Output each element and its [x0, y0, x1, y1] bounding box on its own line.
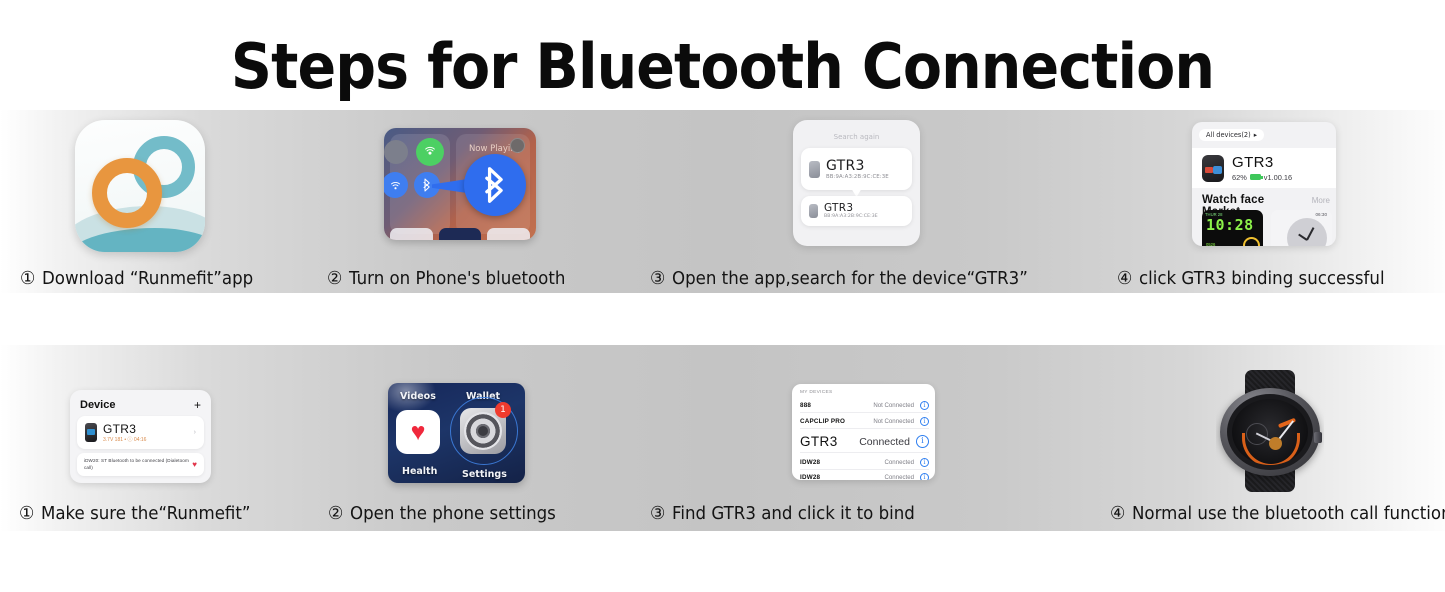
step-caption-1-1: ① Download “Runmefit”app — [20, 268, 253, 289]
ios-dock — [390, 228, 530, 240]
notification-badge: 1 — [495, 402, 511, 418]
device-name: GTR3 — [824, 202, 878, 214]
info-icon[interactable]: i — [920, 417, 929, 426]
settings-app-icon[interactable]: 1 — [460, 408, 506, 454]
step-text: Turn on Phone's bluetooth — [349, 269, 565, 289]
watch-icon — [809, 161, 820, 178]
device-status: Connected — [859, 436, 910, 448]
device-status: Connected — [885, 474, 914, 481]
device-status: Not Connected — [873, 418, 914, 425]
chevron-right-icon: › — [194, 429, 196, 436]
watch-bezel — [1227, 394, 1313, 470]
ios-bluetooth-settings-screenshot: MY DEVICES 888 Not Connected i CAPCLIP P… — [792, 384, 935, 480]
bluetooth-device-row[interactable]: CAPCLIP PRO Not Connected i — [800, 414, 929, 429]
device-status: Connected — [885, 459, 914, 466]
device-name: GTR3 — [103, 422, 146, 436]
device-name: 888 — [800, 402, 811, 409]
watch-hand-hub — [1269, 437, 1282, 450]
watch-face-list: THUR 28 10:28 0526 06:30 — [1202, 210, 1332, 246]
device-list-text: GTR3 3.7V 181 • ⓘ 04:16 — [103, 422, 146, 443]
dock-item — [487, 228, 530, 240]
watch-thumbnail — [1202, 155, 1224, 182]
watch-face-dial — [1287, 218, 1327, 246]
bluetooth-device-row[interactable]: IDW28 Connected i — [800, 470, 929, 480]
step-number: ④ — [1117, 268, 1132, 289]
watch-face-market-more[interactable]: More — [1312, 196, 1330, 205]
device-name: GTR3 — [826, 158, 889, 174]
step-number: ④ — [1110, 503, 1125, 524]
dock-item — [390, 228, 433, 240]
watch-crown — [1314, 432, 1322, 443]
step-text: click GTR3 binding successful — [1139, 269, 1385, 289]
device-status-line: 62% v1.00.16 — [1232, 173, 1292, 182]
step-number: ① — [19, 503, 34, 524]
all-devices-label: All devices(2) — [1206, 131, 1251, 139]
info-icon[interactable]: i — [916, 435, 929, 448]
device-name: GTR3 — [800, 434, 838, 449]
bound-device-info: GTR3 62% v1.00.16 — [1232, 154, 1292, 182]
now-playing-airplay-icon — [510, 138, 525, 153]
step-caption-2-3: ③ Find GTR3 and click it to bind — [650, 503, 915, 524]
airdrop-icon — [384, 140, 408, 164]
watch-face-time: 06:30 — [1316, 212, 1328, 217]
wifi-icon — [384, 172, 408, 198]
watch-case — [1220, 388, 1320, 476]
watch-dial — [1232, 399, 1308, 465]
device-list-row[interactable]: GTR3 3.7V 181 • ⓘ 04:16 › — [77, 416, 204, 449]
iphone-home-screen-screenshot: Videos Wallet ♥ Health 1 Settings — [388, 383, 525, 483]
bound-device-row[interactable]: GTR3 62% v1.00.16 — [1192, 148, 1336, 188]
ios-control-center-screenshot: Now Playing ◂◂ ▸▸ — [384, 128, 536, 240]
watch-face-steps: 0526 — [1206, 242, 1215, 246]
step-caption-1-3: ③ Open the app,search for the device“GTR… — [650, 268, 1028, 289]
watch-thumbnail — [85, 423, 97, 442]
device-list-header: Device + — [80, 399, 201, 411]
hotspot-icon — [416, 138, 444, 166]
app-label-videos: Videos — [400, 391, 436, 402]
watch-face-gauge — [1243, 237, 1260, 246]
heart-icon: ♥ — [411, 420, 426, 445]
search-again-label: Search again — [793, 133, 920, 141]
device-name: IDW28 — [800, 474, 820, 481]
step-number: ② — [328, 503, 343, 524]
device-name: IDW28 — [800, 459, 820, 466]
step-caption-2-4: ④ Normal use the bluetooth call function — [1110, 503, 1445, 524]
info-icon[interactable]: i — [920, 458, 929, 467]
app-device-list-screenshot: Device + GTR3 3.7V 181 • ⓘ 04:16 › iDW20… — [70, 390, 211, 483]
health-app-icon[interactable]: ♥ — [396, 410, 440, 454]
step-number: ③ — [650, 503, 665, 524]
heart-icon: ♥ — [192, 460, 197, 469]
step-number: ② — [327, 268, 342, 289]
bluetooth-device-row[interactable]: 888 Not Connected i — [800, 398, 929, 413]
my-devices-section-label: MY DEVICES — [800, 390, 833, 395]
chevron-right-icon: ▸ — [1254, 131, 1257, 139]
app-bound-device-screenshot: All devices(2) ▸ GTR3 62% v1.00.16 Watch… — [1192, 122, 1336, 246]
search-result-text: GTR3 BB:9A:A3:2B:9C:CE:3E — [826, 158, 889, 180]
step-text: Open the app,search for the device“GTR3” — [672, 269, 1028, 289]
bluetooth-device-row[interactable]: IDW28 Connected i — [800, 455, 929, 470]
device-name: GTR3 — [1232, 154, 1292, 173]
watch-icon — [809, 204, 818, 218]
bluetooth-note-text: iDW20: ST Bluetooth to be connected (Dia… — [84, 458, 192, 472]
info-icon[interactable]: i — [920, 473, 929, 481]
device-status: Not Connected — [873, 402, 914, 409]
step-text: Normal use the bluetooth call function — [1132, 504, 1445, 524]
gtr3-smartwatch-photo — [1216, 370, 1324, 492]
device-mac: BB:9A:A3:2B:9C:CE:3E — [824, 214, 878, 219]
bluetooth-magnified-icon — [464, 154, 526, 216]
watch-face-time: 10:28 — [1206, 216, 1254, 234]
dock-item — [439, 228, 482, 240]
all-devices-button[interactable]: All devices(2) ▸ — [1199, 129, 1264, 141]
step-caption-2-2: ② Open the phone settings — [328, 503, 556, 524]
step-caption-1-2: ② Turn on Phone's bluetooth — [327, 268, 565, 289]
bluetooth-device-row-gtr3[interactable]: GTR3 Connected i — [800, 431, 929, 453]
runmefit-app-icon — [75, 120, 205, 252]
battery-percent: 62% — [1232, 173, 1247, 182]
search-result-text: GTR3 BB:9A:A3:2B:9C:CE:3E — [824, 202, 878, 219]
step-text: Make sure the“Runmefit” — [41, 504, 251, 524]
page-root: Steps for Bluetooth Connection — [0, 0, 1445, 592]
device-mac: BB:9A:A3:2B:9C:CE:3E — [826, 174, 889, 180]
app-label-health: Health — [402, 466, 437, 477]
step-text: Find GTR3 and click it to bind — [672, 504, 915, 524]
device-name: CAPCLIP PRO — [800, 418, 845, 425]
step-caption-2-1: ① Make sure the“Runmefit” — [19, 503, 251, 524]
search-result-row[interactable]: GTR3 BB:9A:A3:2B:9C:CE:3E — [801, 196, 912, 226]
bluetooth-note-card[interactable]: iDW20: ST Bluetooth to be connected (Dia… — [77, 453, 204, 476]
device-header-label: Device — [80, 399, 115, 411]
search-result-row[interactable]: GTR3 BB:9A:A3:2B:9C:CE:3E — [801, 148, 912, 190]
step-number: ① — [20, 268, 35, 289]
info-icon[interactable]: i — [920, 401, 929, 410]
app-device-search-screenshot: Search again GTR3 BB:9A:A3:2B:9C:CE:3E G… — [793, 120, 920, 246]
step-caption-1-4: ④ click GTR3 binding successful — [1117, 268, 1385, 289]
watch-face-preview[interactable]: THUR 28 10:28 0526 — [1202, 210, 1263, 246]
step-text: Open the phone settings — [350, 504, 556, 524]
firmware-version: v1.00.16 — [1264, 173, 1292, 182]
watch-face-preview[interactable]: 06:30 — [1271, 210, 1332, 246]
add-device-icon[interactable]: + — [194, 399, 201, 411]
page-title: Steps for Bluetooth Connection — [58, 30, 1387, 104]
step-text: Download “Runmefit”app — [42, 269, 253, 289]
gear-icon — [464, 412, 502, 450]
icon-orange-ring — [92, 158, 162, 228]
device-status-line: 3.7V 181 • ⓘ 04:16 — [103, 436, 146, 443]
app-label-settings: Settings — [462, 469, 507, 480]
step-number: ③ — [650, 268, 665, 289]
battery-icon — [1250, 174, 1261, 180]
